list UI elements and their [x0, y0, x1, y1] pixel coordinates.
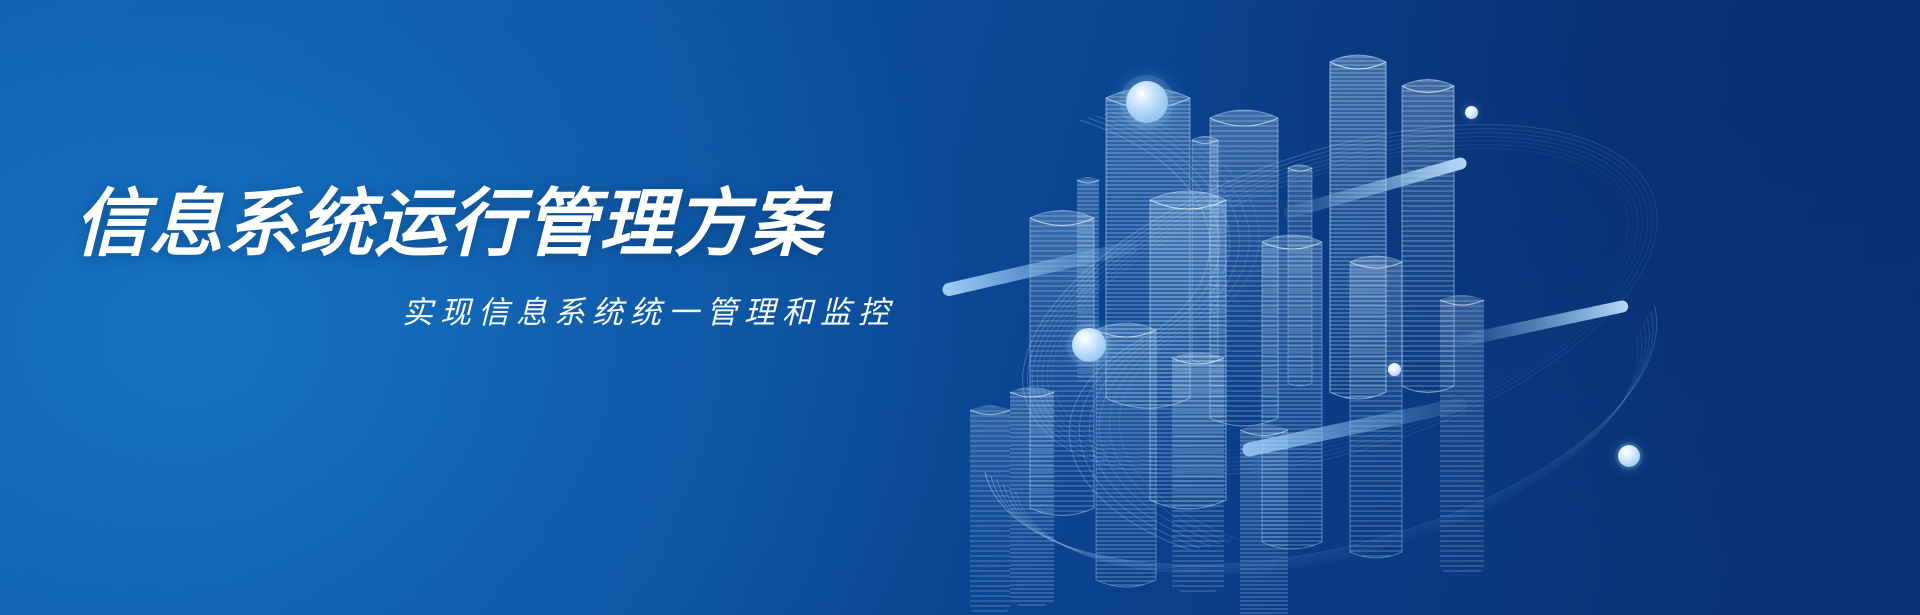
glow-dot-small: [1618, 445, 1640, 467]
page-subtitle: 实现信息系统统一管理和监控: [74, 287, 914, 332]
wireframe-city-illustration: [910, 0, 1920, 615]
banner-text-block: 信息系统运行管理方案 实现信息系统统一管理和监控: [74, 186, 914, 332]
tower-k: [1010, 387, 1054, 607]
glow-dot-medium: [1072, 328, 1106, 362]
glow-dot-xsmall-top: [1465, 106, 1478, 119]
glow-dot-xsmall-mid: [1388, 363, 1401, 376]
tower-i: [1096, 323, 1156, 587]
tower-j: [1172, 352, 1224, 594]
tower-h: [1350, 256, 1402, 558]
hero-banner: 信息系统运行管理方案 实现信息系统统一管理和监控: [0, 0, 1920, 615]
city-graphic-svg: [910, 0, 1920, 615]
glow-dot-large: [1126, 81, 1168, 123]
wireframe-skyscrapers: [970, 55, 1484, 615]
page-title: 信息系统运行管理方案: [74, 186, 914, 263]
tower-l: [970, 406, 1010, 615]
